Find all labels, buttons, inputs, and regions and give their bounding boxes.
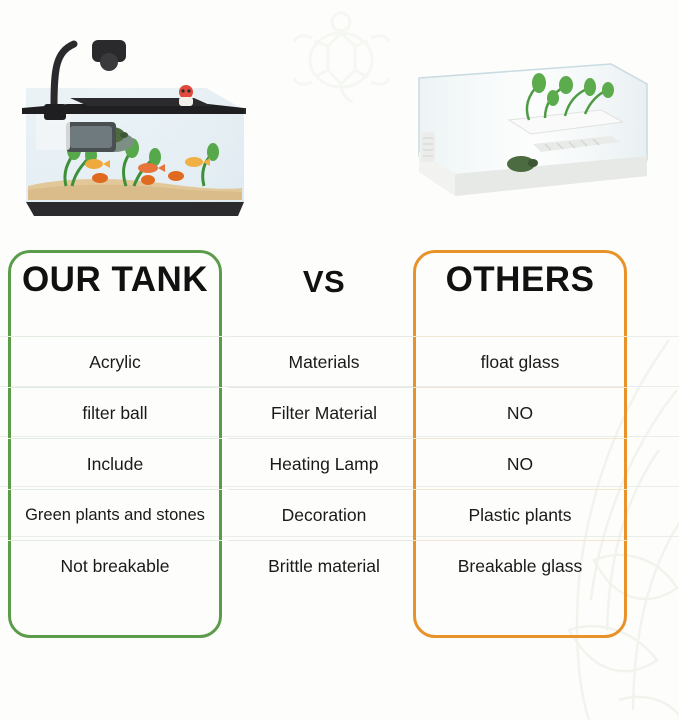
our-tank-photo	[8, 18, 258, 223]
vs-heading: VS	[228, 264, 420, 300]
others-heading: OTHERS	[413, 260, 627, 300]
table-row: NO	[413, 439, 627, 490]
table-row: Brittle material	[228, 541, 420, 591]
column-others: OTHERS float glass NO NO Plastic plants …	[413, 240, 627, 650]
table-row: Materials	[228, 336, 420, 388]
table-row: Heating Lamp	[228, 439, 420, 490]
our-tank-heading: OUR TANK	[8, 260, 222, 300]
table-row: Not breakable	[8, 541, 222, 591]
column-feature: VS Materials Filter Material Heating Lam…	[228, 240, 420, 650]
table-row: NO	[413, 388, 627, 439]
our-tank-values: Acrylic filter ball Include Green plants…	[8, 336, 222, 591]
comparison-table: OUR TANK Acrylic filter ball Include Gre…	[0, 240, 679, 650]
table-row: Acrylic	[8, 336, 222, 388]
product-photos	[0, 0, 679, 236]
table-row: Include	[8, 439, 222, 490]
table-row: float glass	[413, 336, 627, 388]
table-row: filter ball	[8, 388, 222, 439]
others-tank-photo	[405, 48, 655, 213]
table-row: Filter Material	[228, 388, 420, 439]
feature-names: Materials Filter Material Heating Lamp D…	[228, 336, 420, 591]
table-row: Plastic plants	[413, 490, 627, 541]
table-row: Decoration	[228, 490, 420, 541]
others-values: float glass NO NO Plastic plants Breakab…	[413, 336, 627, 591]
column-our-tank: OUR TANK Acrylic filter ball Include Gre…	[8, 240, 222, 650]
table-row: Green plants and stones	[8, 490, 222, 541]
table-row: Breakable glass	[413, 541, 627, 591]
